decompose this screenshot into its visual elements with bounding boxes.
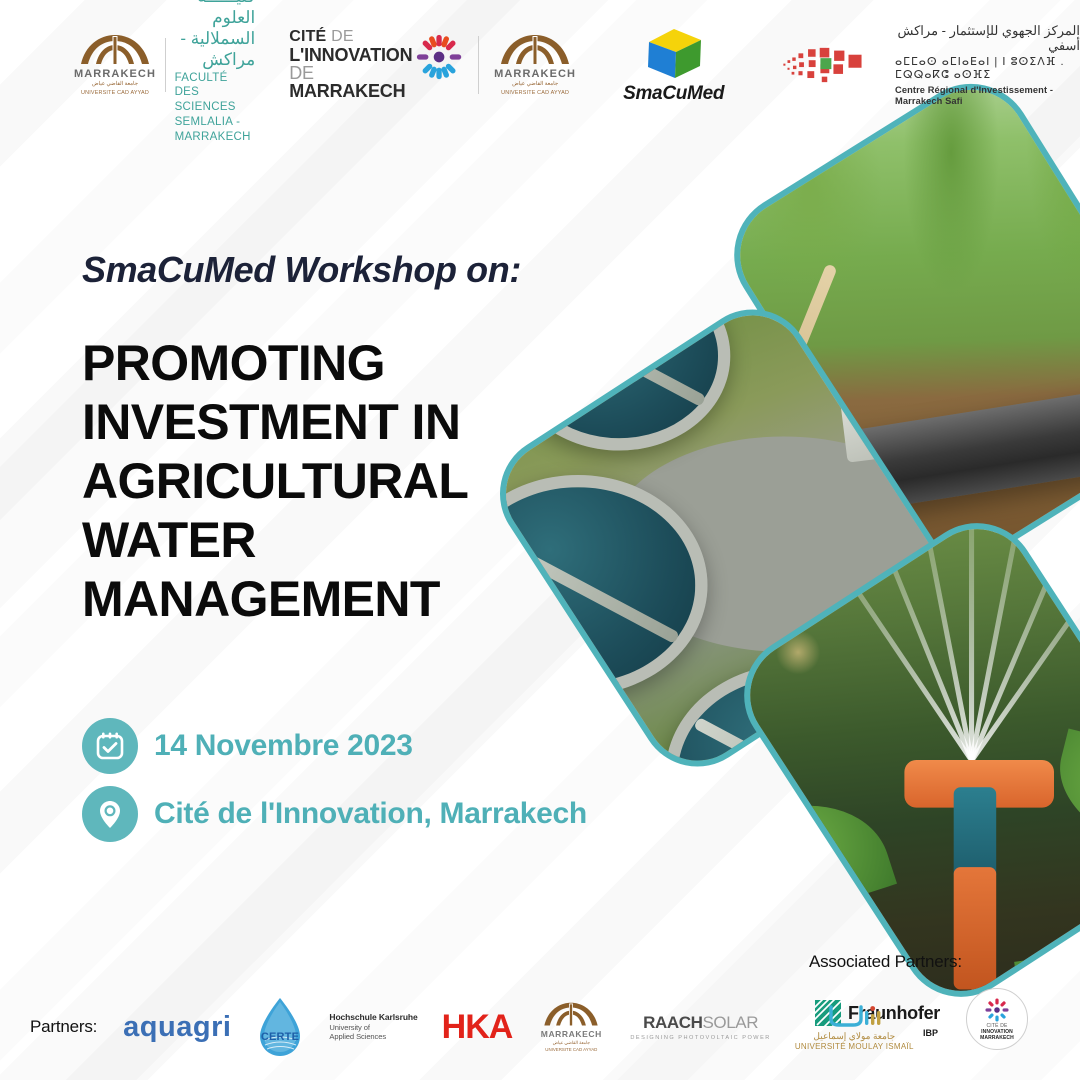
logo-aquagri: aquagri [123,1011,231,1044]
event-date: 14 Novembre 2023 [154,729,413,763]
cite-text-block: CITÉ DE L'INNOVATION DE MARRAKECH [289,29,418,100]
associated-partners-label: Associated Partners: [809,952,1028,972]
plant-leaf [732,782,897,927]
event-date-row: 14 Novembre 2023 [82,718,587,774]
uca-mark-text: MARRAKECH [541,1029,602,1039]
hska-line2: University of [329,1023,417,1032]
uca-fan-icon [542,1001,600,1028]
svg-text:CERTE: CERTE [261,1031,299,1043]
cri-tifinagh: ⴰⵎⵎⴰⵙ ⴰⵎⵏⴰⴹⴰⵏ | ⵏ ⵓⵙⵉⴷⴼ . ⵎⵕⵕⴰⴽⵛ ⴰⵙⴼⵉ [895,56,1080,82]
headline-line: PROMOTING [82,334,602,393]
partners-label: Partners: [30,1017,97,1037]
raach-wordmark: RAACHSOLAR [643,1013,758,1033]
cri-pixel-icon [782,36,885,94]
logo-hka: HKA [442,1008,513,1047]
logo-universite-cadi-ayyad: MARRAKECH جامعة القاضي عياض UNIVERSITE C… [495,33,575,97]
page-title: PROMOTING INVESTMENT IN AGRICULTURAL WAT… [82,334,602,629]
smacumed-wordmark: SmaCuMed [623,83,724,105]
uca-mark: MARRAKECH جامعة القاضي عياض UNIVERSITE C… [74,33,156,97]
headline-line: AGRICULTURAL [82,452,602,511]
partners-section: Partners: aquagri CERTE Hochschule Karls… [30,996,914,1058]
smacumed-cube-icon [643,26,705,82]
cri-arabic: المركز الجهوي للإستثمار - مراكش أسفي [895,23,1080,54]
uca-french-line2: SEMLALIA - MARRAKECH [175,115,256,144]
umi-arabic: جامعة مولاي إسماعيل [813,1031,895,1042]
uca-mark-sub: UNIVERSITE CAD AYYAD [545,1047,597,1053]
uca-mark-sub: UNIVERSITE CAD AYYAD [81,90,149,97]
uca-fan-icon [498,33,572,67]
fraunhofer-institute-code: IBP [923,1028,938,1038]
cite-line1: CITÉ DE [289,29,418,45]
logo-hochschule-karlsruhe: Hochschule Karlsruhe University of Appli… [329,1012,417,1042]
headline-line: WATER [82,511,602,570]
innovation-burst-icon [416,31,462,83]
cite-line3: DE MARRAKECH [289,64,418,101]
logo-universite-moulay-ismail: جامعة مولاي إسماعيل UNIVERSITÉ MOULAY IS… [795,1003,914,1051]
hska-line1: Hochschule Karlsruhe [329,1012,417,1023]
uca-text-block: كليــــــة العلوم السملالية - مراكش FACU… [175,0,256,144]
calendar-check-icon [82,718,138,774]
headline-line: MANAGEMENT [82,570,602,629]
uca-arabic-line2: السملالية - مراكش [175,28,256,71]
uca2-mark-text: MARRAKECH [494,68,576,80]
logo-uca-faculte-des-sciences: MARRAKECH جامعة القاضي عياض UNIVERSITE C… [74,0,255,144]
logo-certe: CERTE [255,996,305,1058]
cri-french: Centre Régional d'Investissement - Marra… [895,85,1080,107]
uca2-mark-sub: UNIVERSITE CAD AYYAD [501,90,569,97]
main-content: SmaCuMed Workshop on: PROMOTING INVESTME… [82,250,602,629]
raach-light: SOLAR [702,1013,758,1032]
headline-line: INVESTMENT IN [82,393,602,452]
logo-cite-innovation-circle: CITÉ DE INNOVATION MARRAKECH [966,988,1028,1050]
raach-tagline: DESIGNING PHOTOVOLTAIC POWER [630,1035,771,1041]
uca-fan-icon [78,33,152,67]
workshop-eyebrow: SmaCuMed Workshop on: [82,250,602,290]
water-jet [969,500,973,760]
logo-divider [165,38,166,92]
uca2-mark-arabic: جامعة القاضي عياض [512,81,558,88]
logo-smacumed: SmaCuMed [623,26,724,105]
raach-bold: RAACH [643,1013,702,1032]
logo-raach-solar: RAACHSOLAR DESIGNING PHOTOVOLTAIC POWER [630,1013,771,1041]
logo-uca-marrakech: MARRAKECH جامعة القاضي عياض UNIVERSITE C… [536,1001,606,1053]
uca-arabic-line1: كليــــــة العلوم [175,0,256,28]
cite-line3-bold: MARRAKECH [289,81,405,101]
uca-mark-text: MARRAKECH [74,68,156,80]
header-logo-strip: MARRAKECH جامعة القاضي عياض UNIVERSITE C… [0,22,1080,108]
hska-line3: Applied Sciences [329,1032,417,1041]
cri-text-block: المركز الجهوي للإستثمار - مراكش أسفي ⴰⵎⵎ… [895,23,1080,108]
cite-line1-bold: CITÉ [289,28,326,45]
uca-mark-arabic: جامعة القاضي عياض [92,81,138,88]
cite-line2: L'INNOVATION [289,46,418,64]
uca-french-line1: FACULTÉ DES SCIENCES [175,71,256,115]
logo-divider [478,36,479,94]
cite-line1-light: DE [326,28,353,45]
event-location: Cité de l'Innovation, Marrakech [154,797,587,831]
map-pin-icon [82,786,138,842]
logo-cri-marrakech-safi: المركز الجهوي للإستثمار - مراكش أسفي ⴰⵎⵎ… [782,23,1080,108]
partners-logos: aquagri CERTE Hochschule Karlsruhe Unive… [123,996,914,1058]
uca-mark-arabic: جامعة القاضي عياض [553,1040,590,1046]
cite-line3-light: DE [289,63,314,83]
event-details: 14 Novembre 2023 Cité de l'Innovation, M… [82,718,587,854]
umi-mark-icon [823,1003,885,1029]
cite-circle-line3: MARRAKECH [980,1035,1014,1041]
logo-cite-de-linnovation: CITÉ DE L'INNOVATION DE MARRAKECH [289,29,462,100]
umi-french: UNIVERSITÉ MOULAY ISMAÏL [795,1042,914,1051]
event-location-row: Cité de l'Innovation, Marrakech [82,786,587,842]
innovation-burst-icon [985,998,1009,1022]
